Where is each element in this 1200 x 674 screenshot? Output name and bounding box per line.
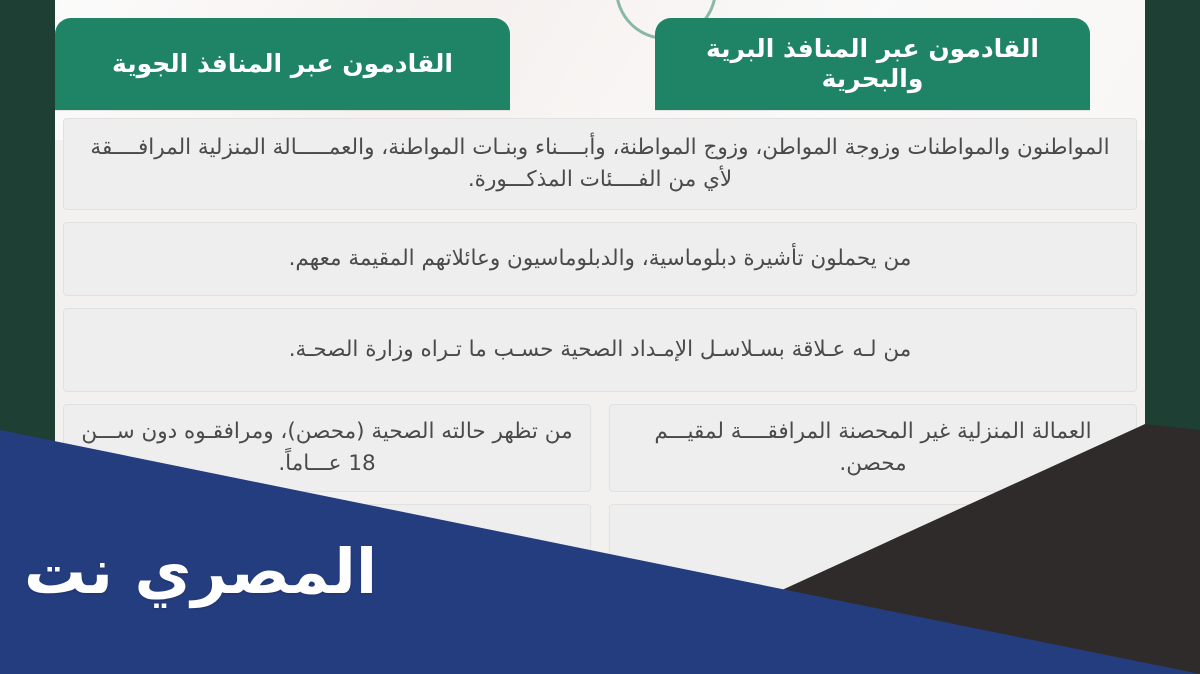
row-1-cell-1: المواطنون والمواطنات وزوجة المواطن، وزوج…: [63, 118, 1137, 210]
row-4-cell-air: العمالة المنزلية غير المحصنة المرافقــــ…: [609, 404, 1137, 492]
infographic-card: القادمون عبر المنافذ البرية والبحرية الق…: [55, 0, 1145, 674]
row-2-cell-1: من يحملون تأشيرة دبلوماسية، والدبلوماسيو…: [63, 222, 1137, 296]
row-5-cell-land: [63, 504, 591, 596]
row-3-cell-1: من لـه عـلاقة بسـلاسـل الإمـداد الصحية ح…: [63, 308, 1137, 392]
tab-land-sea-ports-label: القادمون عبر المنافذ البرية والبحرية: [669, 34, 1076, 95]
row-2-cell-1-text: من يحملون تأشيرة دبلوماسية، والدبلوماسيو…: [80, 243, 1120, 275]
row-5-cell-air: [609, 504, 1137, 596]
table-row: [55, 504, 1145, 596]
category-tabs: القادمون عبر المنافذ البرية والبحرية الق…: [55, 18, 1145, 112]
table-row: من يحملون تأشيرة دبلوماسية، والدبلوماسيو…: [55, 222, 1145, 296]
table-row: المواطنون والمواطنات وزوجة المواطن، وزوج…: [55, 118, 1145, 210]
tab-air-ports[interactable]: القادمون عبر المنافذ الجوية: [55, 18, 510, 110]
row-4-cell-air-text: العمالة المنزلية غير المحصنة المرافقــــ…: [626, 416, 1120, 481]
tab-land-sea-ports[interactable]: القادمون عبر المنافذ البرية والبحرية: [655, 18, 1090, 110]
row-4-cell-land-text: من تظهر حالته الصحية (محصن)، ومرافقـوه د…: [80, 416, 574, 481]
row-1-cell-1-text: المواطنون والمواطنات وزوجة المواطن، وزوج…: [80, 132, 1120, 197]
table-row: العمالة المنزلية غير المحصنة المرافقــــ…: [55, 404, 1145, 492]
tab-air-ports-label: القادمون عبر المنافذ الجوية: [112, 49, 453, 80]
poster-stage: القادمون عبر المنافذ البرية والبحرية الق…: [0, 0, 1200, 674]
background-band-right: [1145, 0, 1200, 674]
category-rows: المواطنون والمواطنات وزوجة المواطن، وزوج…: [55, 118, 1145, 608]
row-4-cell-land: من تظهر حالته الصحية (محصن)، ومرافقـوه د…: [63, 404, 591, 492]
background-band-left: [0, 0, 55, 674]
row-3-cell-1-text: من لـه عـلاقة بسـلاسـل الإمـداد الصحية ح…: [80, 334, 1120, 366]
table-row: من لـه عـلاقة بسـلاسـل الإمـداد الصحية ح…: [55, 308, 1145, 392]
